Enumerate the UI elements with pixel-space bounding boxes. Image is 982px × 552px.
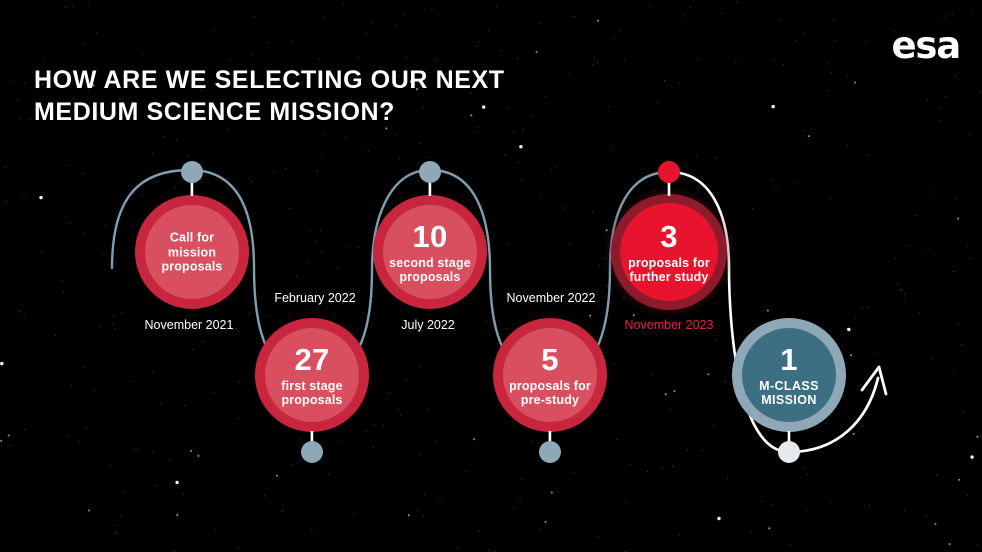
node-dot-3: [419, 161, 441, 183]
node-first-stage-proposals[interactable]: [255, 318, 369, 463]
node-m-class-mission[interactable]: [732, 318, 846, 463]
node-second-stage-proposals[interactable]: [373, 161, 487, 309]
esa-globe-icon: [854, 28, 890, 64]
node-dot-5: [658, 161, 680, 183]
node-dot-4: [539, 441, 561, 463]
esa-logo[interactable]: esa: [854, 27, 961, 64]
infographic-slide: HOW ARE WE SELECTING OUR NEXT MEDIUM SCI…: [0, 0, 982, 552]
node-dot-2: [301, 441, 323, 463]
node-proposals-for-pre-study[interactable]: [493, 318, 607, 463]
node-proposals-for-further-study[interactable]: [603, 161, 735, 318]
node-dot-6: [778, 441, 800, 463]
node-call-for-mission-proposals[interactable]: [135, 161, 249, 309]
timeline-artwork: [0, 0, 982, 552]
node-dot-1: [181, 161, 203, 183]
esa-wordmark: esa: [892, 27, 961, 64]
